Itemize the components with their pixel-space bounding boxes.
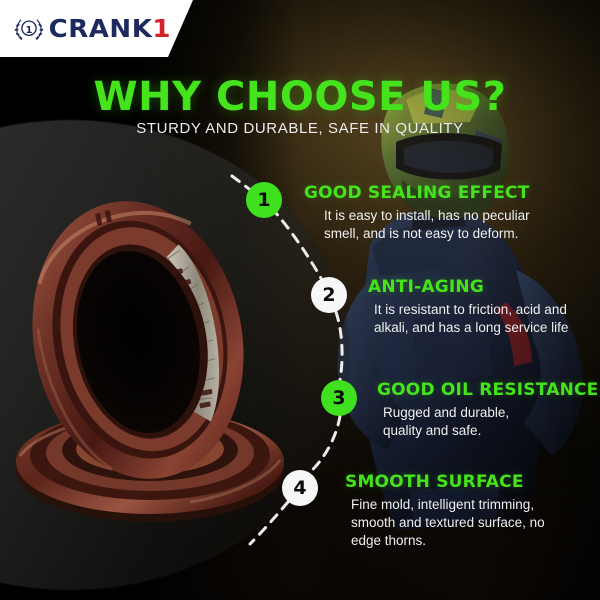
feature-1-line-2: smell, and is not easy to deform. [324,225,530,243]
feature-item-1: GOOD SEALING EFFECT It is easy to instal… [304,183,530,243]
feature-item-3: GOOD OIL RESISTANCE Rugged and durable, … [377,380,598,440]
feature-4-line-2: smooth and textured surface, no [351,514,545,532]
feature-3-line-2: quality and safe. [383,422,598,440]
feature-1-line-1: It is easy to install, has no peculiar [324,207,530,225]
feature-2-body: It is resistant to friction, acid and al… [368,301,568,337]
feature-badge-4[interactable]: 4 [282,470,318,506]
feature-4-heading: SMOOTH SURFACE [345,472,545,492]
feature-3-heading: GOOD OIL RESISTANCE [377,380,598,400]
feature-badge-3-number: 3 [332,387,345,409]
infographic-canvas: 1 CRANK1 WHY CHOOSE US? STURDY AND DURAB… [0,0,600,600]
feature-item-4: SMOOTH SURFACE Fine mold, intelligent tr… [345,472,545,550]
feature-1-heading: GOOD SEALING EFFECT [304,183,530,203]
feature-3-body: Rugged and durable, quality and safe. [377,404,598,440]
feature-2-heading: ANTI-AGING [368,277,568,297]
feature-badge-3[interactable]: 3 [321,380,357,416]
feature-2-line-1: It is resistant to friction, acid and [374,301,568,319]
feature-4-line-1: Fine mold, intelligent trimming, [351,496,545,514]
feature-4-body: Fine mold, intelligent trimming, smooth … [345,496,545,550]
feature-4-line-3: edge thorns. [351,532,545,550]
feature-2-line-2: alkali, and has a long service life [374,319,568,337]
feature-badge-2[interactable]: 2 [311,277,347,313]
feature-item-2: ANTI-AGING It is resistant to friction, … [368,277,568,337]
feature-badge-1[interactable]: 1 [246,182,282,218]
feature-badge-1-number: 1 [257,189,270,211]
feature-badge-2-number: 2 [322,284,335,306]
feature-3-line-1: Rugged and durable, [383,404,598,422]
feature-badge-4-number: 4 [293,477,306,499]
feature-1-body: It is easy to install, has no peculiar s… [304,207,530,243]
